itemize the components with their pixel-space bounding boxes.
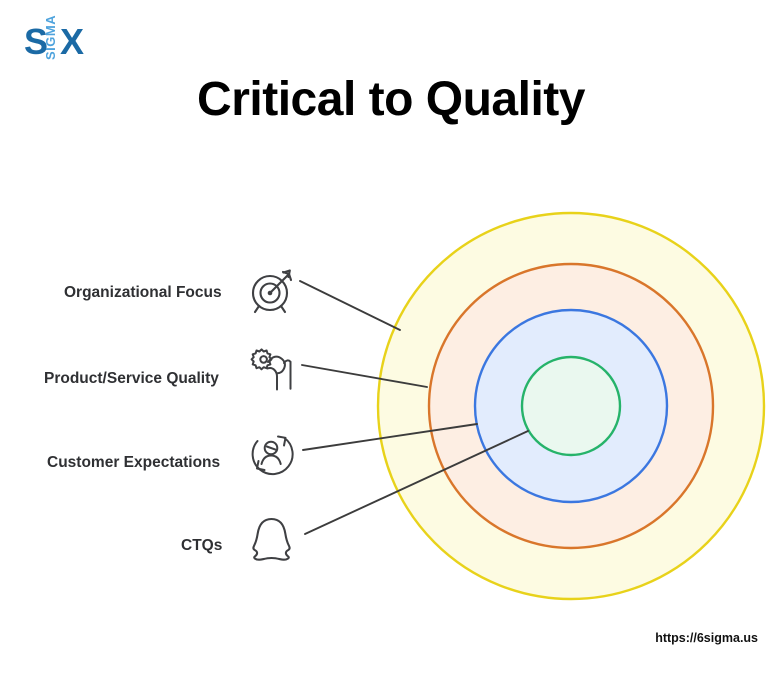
connector-line-level-1 xyxy=(300,281,400,330)
customer-cycle-icon xyxy=(243,425,301,483)
label-ctqs: CTQs xyxy=(181,537,222,555)
gear-hand-icon xyxy=(243,341,301,399)
label-customer-expectations: Customer Expectations xyxy=(47,454,220,472)
ring-level-4 xyxy=(522,357,620,455)
slide-canvas: S SIGMA X Critical to Quality Organizati… xyxy=(0,0,782,687)
footer-url: https://6sigma.us xyxy=(655,631,758,645)
rings-group xyxy=(378,213,764,599)
label-product-service-quality: Product/Service Quality xyxy=(44,370,219,388)
target-arrow-icon xyxy=(243,262,301,320)
penguin-icon xyxy=(243,512,301,570)
ctq-concentric-diagram xyxy=(0,0,782,687)
label-organizational-focus: Organizational Focus xyxy=(64,284,222,302)
